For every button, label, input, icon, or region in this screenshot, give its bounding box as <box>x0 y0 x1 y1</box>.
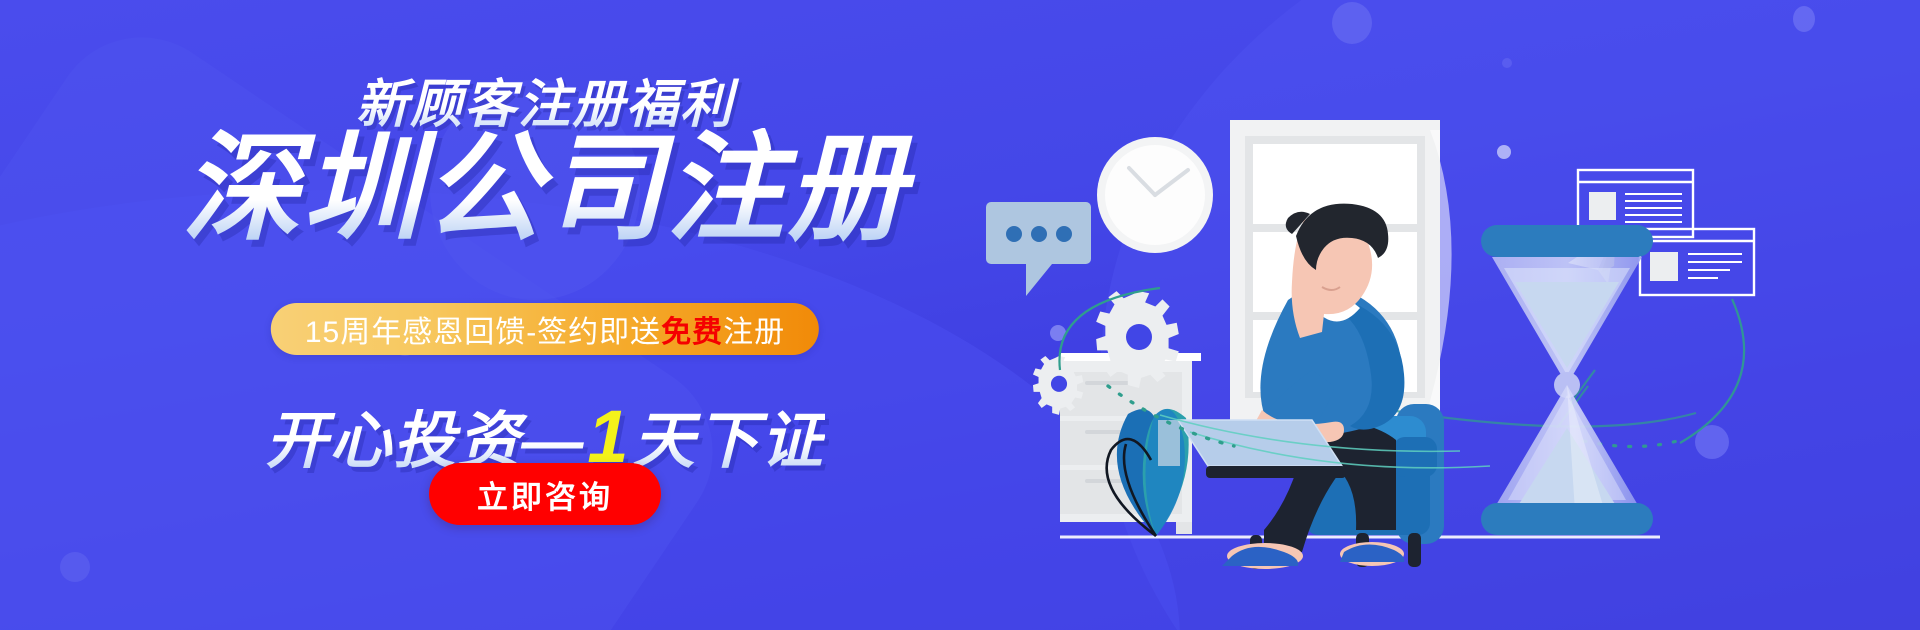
consult-now-button[interactable]: 立即咨询 <box>429 463 661 525</box>
page-title: 深圳公司注册 <box>0 128 1090 252</box>
document-card-front-content <box>1650 252 1742 281</box>
promo-banner: 新顾客注册福利 深圳公司注册 15周年感恩回馈-签约即送 免费 注册 开心投资—… <box>0 0 1920 630</box>
promo-pill: 15周年感恩回馈-签约即送 免费 注册 <box>271 303 819 355</box>
promo-pill-suffix: 注册 <box>723 307 785 351</box>
document-card-back-content <box>1589 192 1682 229</box>
promo-pill-prefix: 15周年感恩回馈-签约即送 <box>305 307 661 351</box>
hourglass <box>1481 225 1653 535</box>
wall-clock-icon <box>1097 137 1213 253</box>
consult-now-label: 立即咨询 <box>477 472 613 517</box>
copy-block: 新顾客注册福利 深圳公司注册 15周年感恩回馈-签约即送 免费 注册 开心投资—… <box>0 0 1090 630</box>
promo-pill-highlight: 免费 <box>661 307 723 351</box>
subline-after: 天下证 <box>633 407 825 476</box>
